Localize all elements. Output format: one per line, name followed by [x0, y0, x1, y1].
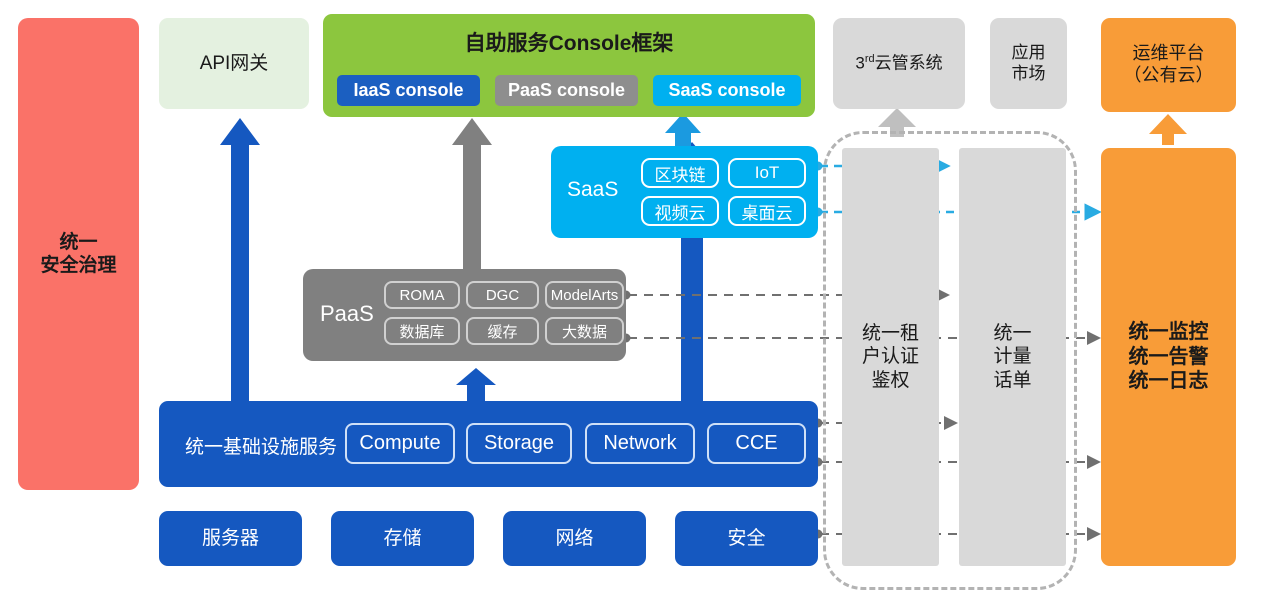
arrow-ops-pillar-to-ops-platform: [1149, 114, 1187, 145]
arrow-paas-to-console: [452, 118, 492, 272]
architecture-diagram: 统一 安全治理 API网关 自助服务Console框架 IaaS console…: [0, 0, 1265, 605]
ops-monitoring-pillar[interactable]: 统一监控 统一告警 统一日志: [1101, 148, 1236, 566]
infra-service-storage[interactable]: Storage: [466, 423, 572, 464]
infrastructure-label: 统一基础设施服务: [185, 432, 337, 459]
chip-paas-console[interactable]: PaaS console: [495, 75, 638, 106]
third-party-label: 3rd云管系统: [855, 53, 942, 74]
unified-metering-column[interactable]: 统一 计量 话单: [959, 148, 1066, 566]
chip-iaas-console[interactable]: IaaS console: [337, 75, 480, 106]
paas-service-cache[interactable]: 缓存: [466, 317, 539, 345]
ops-platform-card[interactable]: 运维平台 （公有云）: [1101, 18, 1236, 112]
paas-service-database[interactable]: 数据库: [384, 317, 460, 345]
self-service-console-frame: 自助服务Console框架 IaaS console PaaS console …: [323, 14, 815, 117]
arrow-infra-to-api-gateway: [220, 118, 260, 405]
paas-layer-label: PaaS: [320, 301, 374, 327]
resource-card-security[interactable]: 安全: [675, 511, 818, 566]
resource-card-storage[interactable]: 存储: [331, 511, 474, 566]
api-gateway-card[interactable]: API网关: [159, 18, 309, 109]
security-governance-pillar[interactable]: 统一 安全治理: [18, 18, 139, 490]
arrow-saas-to-saas-console: [665, 113, 701, 146]
saas-service-iot[interactable]: IoT: [728, 158, 806, 188]
arrow-infra-to-paas: [456, 368, 496, 405]
paas-service-dgc[interactable]: DGC: [466, 281, 539, 309]
console-frame-title: 自助服务Console框架: [323, 27, 815, 57]
infra-service-compute[interactable]: Compute: [345, 423, 455, 464]
saas-service-video-cloud[interactable]: 视频云: [641, 196, 719, 226]
infra-service-network[interactable]: Network: [585, 423, 695, 464]
arrow-to-third-party: [878, 108, 916, 137]
paas-service-modelarts[interactable]: ModelArts: [545, 281, 624, 309]
unified-tenant-auth-column[interactable]: 统一租 户认证 鉴权: [842, 148, 939, 566]
saas-layer-block: SaaS 区块链 IoT 视频云 桌面云: [551, 146, 818, 238]
infra-service-cce[interactable]: CCE: [707, 423, 806, 464]
unified-infrastructure-bar: 统一基础设施服务 Compute Storage Network CCE: [159, 401, 818, 487]
paas-service-roma[interactable]: ROMA: [384, 281, 460, 309]
app-market-card[interactable]: 应用 市场: [990, 18, 1067, 109]
paas-layer-block: PaaS ROMA DGC ModelArts 数据库 缓存 大数据: [303, 269, 626, 361]
saas-service-blockchain[interactable]: 区块链: [641, 158, 719, 188]
paas-service-bigdata[interactable]: 大数据: [545, 317, 624, 345]
chip-saas-console[interactable]: SaaS console: [653, 75, 801, 106]
resource-card-server[interactable]: 服务器: [159, 511, 302, 566]
resource-card-network[interactable]: 网络: [503, 511, 646, 566]
saas-service-desktop-cloud[interactable]: 桌面云: [728, 196, 806, 226]
third-party-cloud-mgmt-card[interactable]: 3rd云管系统: [833, 18, 965, 109]
saas-layer-label: SaaS: [567, 178, 618, 202]
